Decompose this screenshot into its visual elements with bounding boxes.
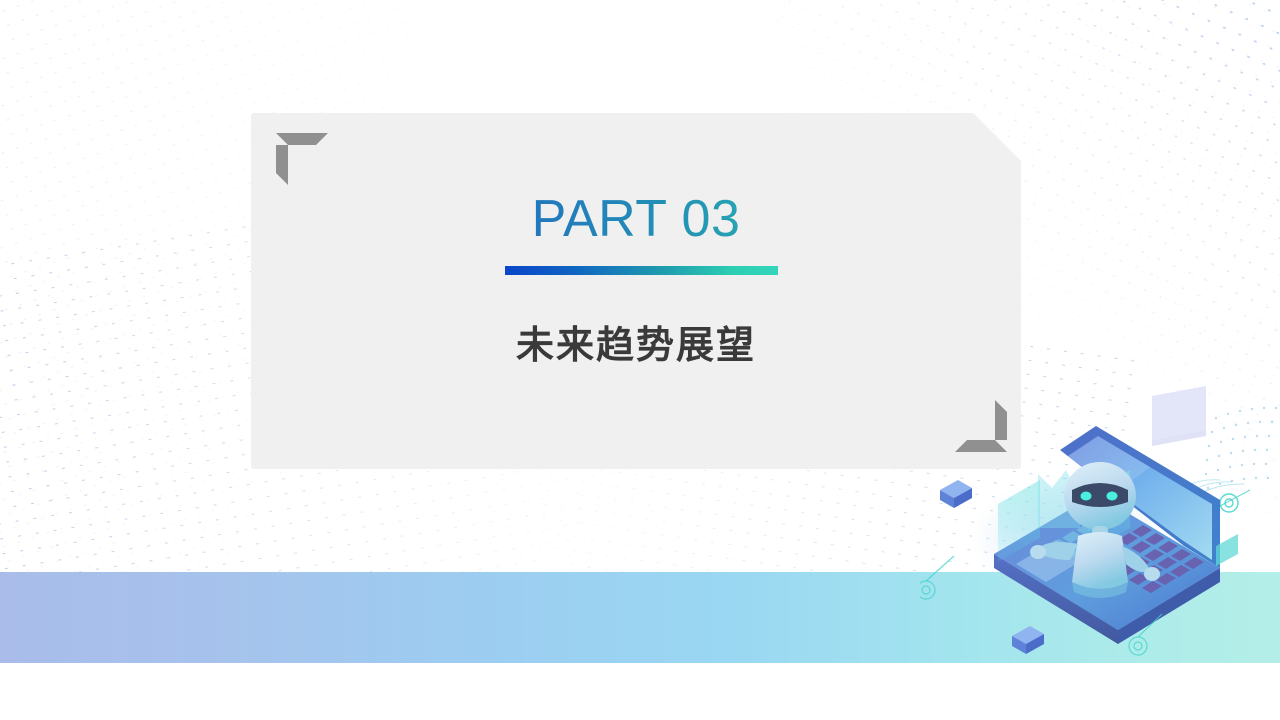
footer-bar: 深圳市和讯华谷信息技术有限公司 版权所有 © 2011-2025 粤ICP备12… [0,663,1280,720]
title-gradient-rule [505,266,778,275]
section-title: 未来趋势展望 [251,325,1021,369]
floating-cube [940,480,972,508]
section-panel [251,113,1021,469]
bottom-gradient-band [0,572,1280,663]
section-label: PART 03 [251,193,1021,245]
slide-canvas: PART 03 未来趋势展望 [0,0,1280,720]
